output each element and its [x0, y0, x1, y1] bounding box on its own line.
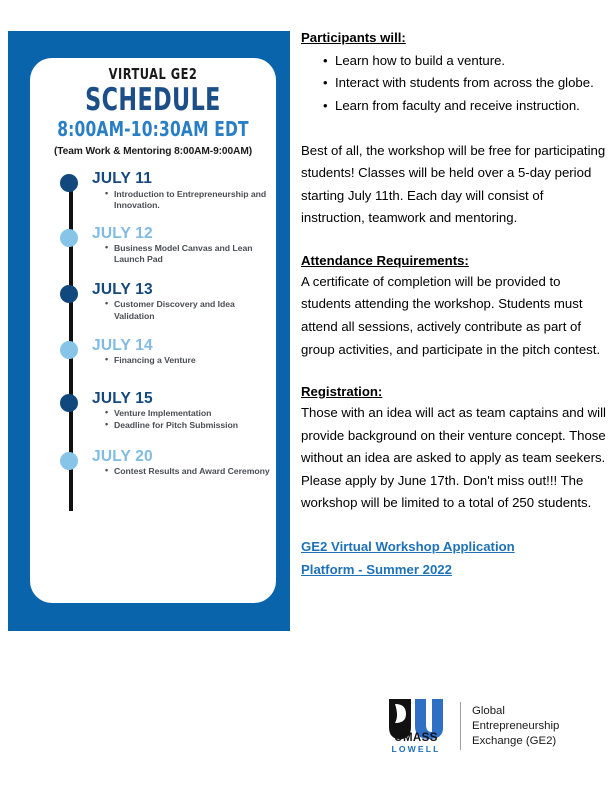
timeline-entry: JULY 12 Business Model Canvas and Lean L…	[30, 226, 276, 266]
timeline-dot-icon	[60, 174, 78, 192]
timeline-item-list: Customer Discovery and Idea Validation	[92, 299, 276, 322]
registration-heading: Registration:	[301, 382, 609, 402]
timeline-item-list: Venture Implementation Deadline for Pitc…	[92, 408, 276, 431]
timeline-entry: JULY 15 Venture Implementation Deadline …	[30, 391, 276, 431]
spacer	[301, 361, 609, 382]
timeline-list-item: Financing a Venture	[105, 355, 276, 366]
timeline-entry: JULY 20 Contest Results and Award Ceremo…	[30, 449, 276, 478]
timeline-date: JULY 12	[92, 226, 276, 242]
schedule-blue-panel: VIRTUAL GE2 SCHEDULE 8:00AM-10:30AM EDT …	[8, 31, 290, 631]
timeline-list-item: Deadline for Pitch Submission	[105, 420, 276, 431]
participants-list-item: Learn from faculty and receive instructi…	[323, 95, 609, 118]
logo-divider	[460, 702, 461, 750]
participants-list-item: Learn how to build a venture.	[323, 50, 609, 73]
timeline-entry: JULY 11 Introduction to Entrepreneurship…	[30, 171, 276, 211]
timeline-date: JULY 11	[92, 171, 276, 187]
timeline-item-list: Introduction to Entrepreneurship and Inn…	[92, 189, 276, 212]
spacer	[301, 118, 609, 140]
timeline-list-item: Business Model Canvas and Lean Launch Pa…	[105, 243, 276, 266]
ge2-name-line-2: Entrepreneurship	[472, 719, 559, 734]
timeline-dot-icon	[60, 452, 78, 470]
timeline-date: JULY 14	[92, 338, 276, 354]
lowell-wordmark: LOWELL	[385, 745, 447, 754]
timeline-dot-icon	[60, 285, 78, 303]
umass-wordmark: UMASS	[385, 733, 447, 745]
timeline-dot-icon	[60, 229, 78, 247]
schedule-time: 8:00AM-10:30AM EDT	[50, 118, 257, 141]
timeline-entry: JULY 13 Customer Discovery and Idea Vali…	[30, 282, 276, 322]
umass-lowell-logo-icon: UMASS LOWELL	[385, 698, 447, 754]
registration-paragraph: Those with an idea will act as team capt…	[301, 402, 609, 515]
schedule-card-header: VIRTUAL GE2 SCHEDULE 8:00AM-10:30AM EDT …	[30, 58, 276, 157]
participants-list: Learn how to build a venture. Interact w…	[301, 50, 609, 118]
participants-list-item: Interact with students from across the g…	[323, 72, 609, 95]
spacer	[301, 230, 609, 251]
schedule-eyebrow: VIRTUAL GE2	[52, 66, 254, 83]
timeline-list-item: Venture Implementation	[105, 408, 276, 419]
ge2-logo-lockup: UMASS LOWELL Global Entrepreneurship Exc…	[385, 698, 559, 754]
application-platform-link-line2[interactable]: Platform - Summer 2022	[301, 559, 609, 582]
timeline-date: JULY 20	[92, 449, 276, 465]
ge2-program-name: Global Entrepreneurship Exchange (GE2)	[472, 704, 559, 749]
spacer	[301, 515, 609, 536]
schedule-timeline: JULY 11 Introduction to Entrepreneurship…	[30, 171, 276, 541]
free-workshop-paragraph: Best of all, the workshop will be free f…	[301, 140, 609, 230]
timeline-date: JULY 13	[92, 282, 276, 298]
timeline-entry: JULY 14 Financing a Venture	[30, 338, 276, 367]
attendance-paragraph: A certificate of completion will be prov…	[301, 271, 609, 361]
information-column: Participants will: Learn how to build a …	[301, 28, 609, 581]
timeline-date: JULY 15	[92, 391, 276, 407]
schedule-title: SCHEDULE	[55, 84, 252, 117]
timeline-list-item: Contest Results and Award Ceremony	[105, 466, 276, 477]
participants-heading: Participants will:	[301, 28, 609, 48]
schedule-subtitle: (Team Work & Mentoring 8:00AM-9:00AM)	[30, 146, 276, 157]
timeline-list-item: Introduction to Entrepreneurship and Inn…	[105, 189, 276, 212]
timeline-item-list: Business Model Canvas and Lean Launch Pa…	[92, 243, 276, 266]
timeline-list-item: Customer Discovery and Idea Validation	[105, 299, 276, 322]
timeline-dot-icon	[60, 341, 78, 359]
ge2-name-line-3: Exchange (GE2)	[472, 734, 559, 749]
application-platform-link[interactable]: GE2 Virtual Workshop Application	[301, 536, 609, 559]
ge2-name-line-1: Global	[472, 704, 559, 719]
attendance-heading: Attendance Requirements:	[301, 251, 609, 271]
timeline-item-list: Contest Results and Award Ceremony	[92, 466, 276, 477]
timeline-item-list: Financing a Venture	[92, 355, 276, 366]
schedule-card: VIRTUAL GE2 SCHEDULE 8:00AM-10:30AM EDT …	[30, 58, 276, 603]
timeline-dot-icon	[60, 394, 78, 412]
